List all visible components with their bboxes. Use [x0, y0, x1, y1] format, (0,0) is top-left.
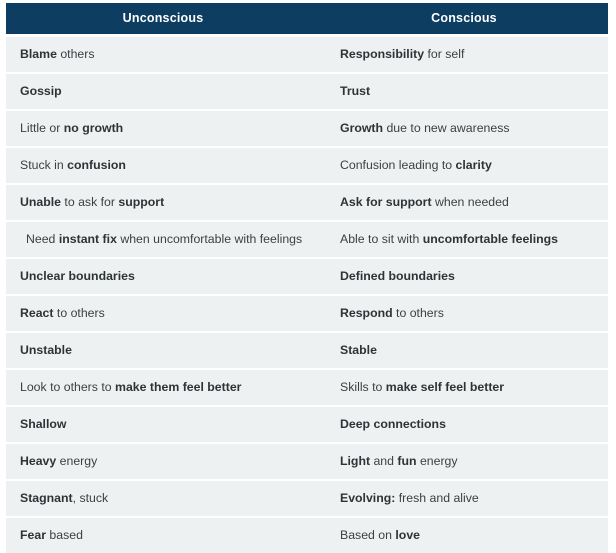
column-header-unconscious: Unconscious [6, 3, 320, 36]
cell-conscious: Defined boundaries [320, 258, 608, 295]
table-row: Little or no growthGrowth due to new awa… [6, 110, 608, 147]
cell-unconscious: Blame others [6, 36, 320, 74]
cell-conscious: Able to sit with uncomfortable feelings [320, 221, 608, 258]
cell-unconscious: Look to others to make them feel better [6, 369, 320, 406]
table-row: React to othersRespond to others [6, 295, 608, 332]
cell-conscious: Respond to others [320, 295, 608, 332]
cell-unconscious: React to others [6, 295, 320, 332]
cell-unconscious: Fear based [6, 517, 320, 553]
cell-unconscious: Unable to ask for support [6, 184, 320, 221]
cell-conscious: Evolving: fresh and alive [320, 480, 608, 517]
cell-conscious: Growth due to new awareness [320, 110, 608, 147]
table-row: Look to others to make them feel betterS… [6, 369, 608, 406]
table-body: Blame othersResponsibility for selfGossi… [6, 36, 608, 553]
cell-unconscious: Stagnant, stuck [6, 480, 320, 517]
cell-conscious: Responsibility for self [320, 36, 608, 74]
table-row: Stagnant, stuckEvolving: fresh and alive [6, 480, 608, 517]
table-row: Fear basedBased on love [6, 517, 608, 553]
cell-conscious: Trust [320, 73, 608, 110]
cell-unconscious: Stuck in confusion [6, 147, 320, 184]
table-row: Heavy energyLight and fun energy [6, 443, 608, 480]
table-header: Unconscious Conscious [6, 3, 608, 36]
cell-unconscious: Little or no growth [6, 110, 320, 147]
cell-conscious: Light and fun energy [320, 443, 608, 480]
cell-conscious: Skills to make self feel better [320, 369, 608, 406]
table-row: UnstableStable [6, 332, 608, 369]
column-header-conscious: Conscious [320, 3, 608, 36]
cell-conscious: Deep connections [320, 406, 608, 443]
table-row: GossipTrust [6, 73, 608, 110]
table-row: ShallowDeep connections [6, 406, 608, 443]
cell-unconscious: Heavy energy [6, 443, 320, 480]
cell-unconscious: Gossip [6, 73, 320, 110]
cell-conscious: Based on love [320, 517, 608, 553]
table-row: Need instant fix when uncomfortable with… [6, 221, 608, 258]
cell-conscious: Stable [320, 332, 608, 369]
table-row: Unclear boundariesDefined boundaries [6, 258, 608, 295]
cell-conscious: Confusion leading to clarity [320, 147, 608, 184]
cell-unconscious: Need instant fix when uncomfortable with… [6, 221, 320, 258]
cell-unconscious: Shallow [6, 406, 320, 443]
cell-unconscious: Unclear boundaries [6, 258, 320, 295]
cell-conscious: Ask for support when needed [320, 184, 608, 221]
table-header-row: Unconscious Conscious [6, 3, 608, 36]
table-row: Unable to ask for supportAsk for support… [6, 184, 608, 221]
unconscious-conscious-comparison-table: Unconscious Conscious Blame othersRespon… [6, 3, 608, 553]
table-row: Stuck in confusionConfusion leading to c… [6, 147, 608, 184]
cell-unconscious: Unstable [6, 332, 320, 369]
table-row: Blame othersResponsibility for self [6, 36, 608, 74]
